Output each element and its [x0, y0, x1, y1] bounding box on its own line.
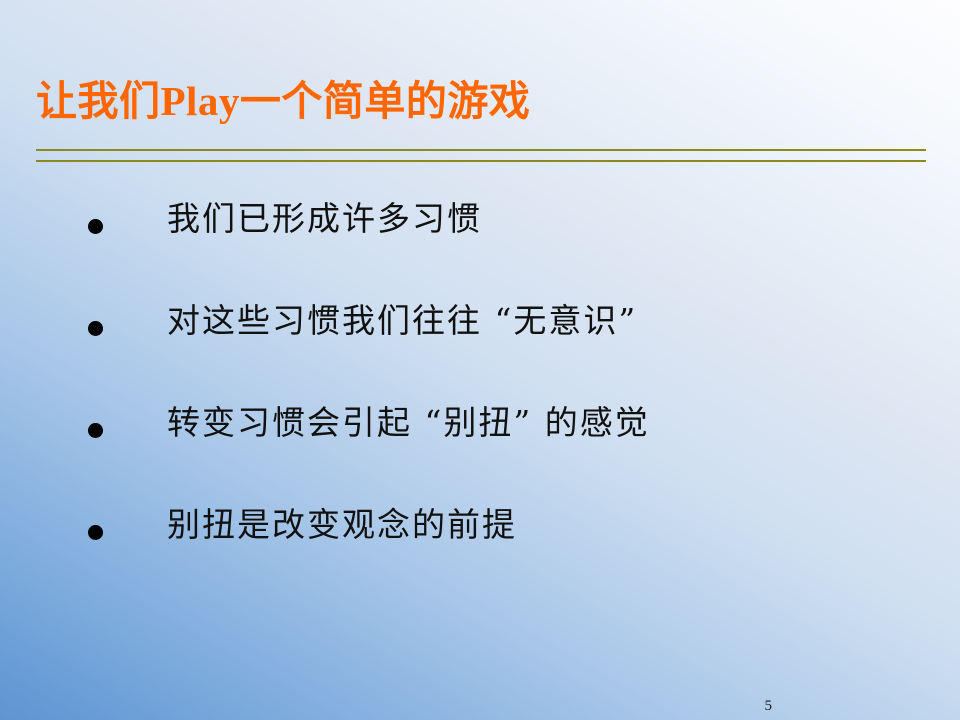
page-title: 让我们Play一个简单的游戏 — [36, 78, 926, 125]
page-number: 5 — [0, 698, 772, 715]
title-divider — [36, 149, 926, 162]
list-item: 我们已形成许多习惯 — [0, 196, 960, 298]
bullet-list: 我们已形成许多习惯 对这些习惯我们往往 “无意识” 转变习惯会引起 “别扭” 的… — [0, 196, 960, 604]
list-item-label: 我们已形成许多习惯 — [167, 196, 482, 242]
list-item-label: 转变习惯会引起 “别扭” 的感觉 — [167, 400, 650, 446]
list-item: 对这些习惯我们往往 “无意识” — [0, 298, 960, 400]
bullet-dot-icon — [88, 423, 103, 438]
list-item-label: 别扭是改变观念的前提 — [167, 502, 517, 548]
bullet-dot-icon — [88, 525, 103, 540]
list-item: 别扭是改变观念的前提 — [0, 502, 960, 604]
list-item: 转变习惯会引起 “别扭” 的感觉 — [0, 400, 960, 502]
divider-line-top — [36, 149, 926, 151]
slide-canvas: 让我们Play一个简单的游戏 我们已形成许多习惯 对这些习惯我们往往 “无意识”… — [0, 0, 960, 720]
divider-line-bottom — [36, 160, 926, 162]
bullet-dot-icon — [88, 321, 103, 336]
bullet-dot-icon — [88, 219, 103, 234]
title-block: 让我们Play一个简单的游戏 — [36, 78, 926, 125]
list-item-label: 对这些习惯我们往往 “无意识” — [167, 298, 637, 344]
